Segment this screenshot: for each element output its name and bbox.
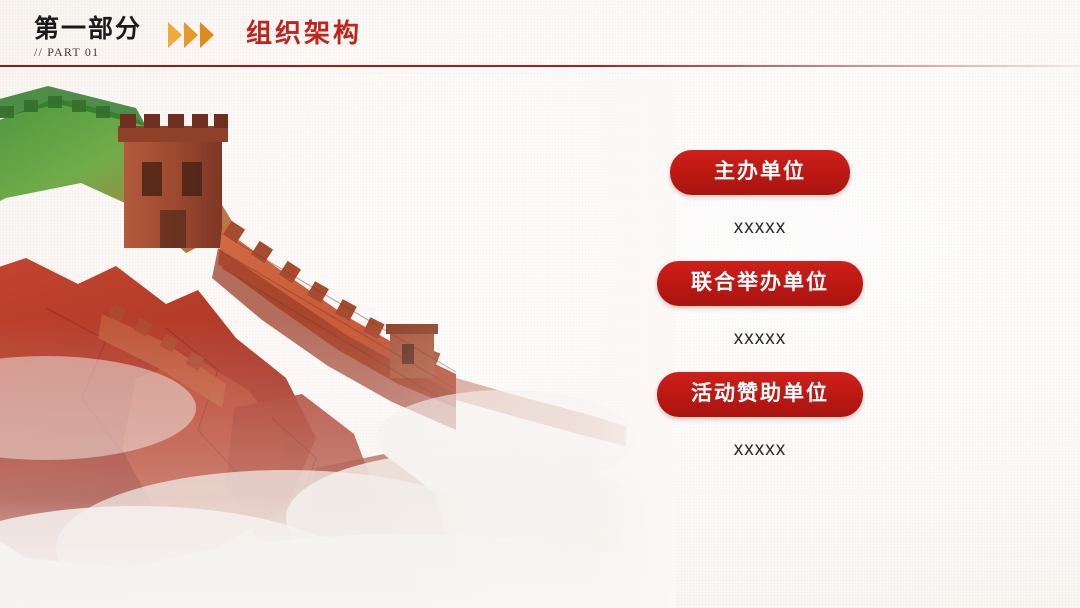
- org-item: 活动赞助单位 xxxxx: [560, 372, 960, 461]
- part-label-en: // PART 01: [34, 45, 142, 59]
- org-value-host: xxxxx: [560, 217, 960, 239]
- org-item: 主办单位 xxxxx: [560, 150, 960, 239]
- chevron-right-icon-1: [168, 22, 182, 48]
- org-role-badge-host[interactable]: 主办单位: [670, 150, 850, 195]
- page-title: 组织架构: [246, 16, 362, 50]
- org-value-coorganizer: xxxxx: [560, 328, 960, 350]
- org-value-sponsor: xxxxx: [560, 439, 960, 461]
- slide-canvas: 第一部分 // PART 01 组织架构: [0, 0, 1080, 608]
- chevron-arrows-icon: [168, 22, 232, 48]
- slide-header: 第一部分 // PART 01 组织架构: [0, 0, 1080, 66]
- chevron-right-icon-3: [200, 22, 214, 48]
- chevron-right-icon-2: [184, 22, 198, 48]
- part-label-cn: 第一部分: [34, 14, 142, 44]
- org-role-badge-coorganizer[interactable]: 联合举办单位: [657, 261, 863, 306]
- organization-structure-list: 主办单位 xxxxx 联合举办单位 xxxxx 活动赞助单位 xxxxx: [560, 150, 960, 467]
- part-label-block: 第一部分 // PART 01: [34, 14, 142, 59]
- org-role-badge-sponsor[interactable]: 活动赞助单位: [657, 372, 863, 417]
- header-divider: [0, 65, 1080, 67]
- org-item: 联合举办单位 xxxxx: [560, 261, 960, 350]
